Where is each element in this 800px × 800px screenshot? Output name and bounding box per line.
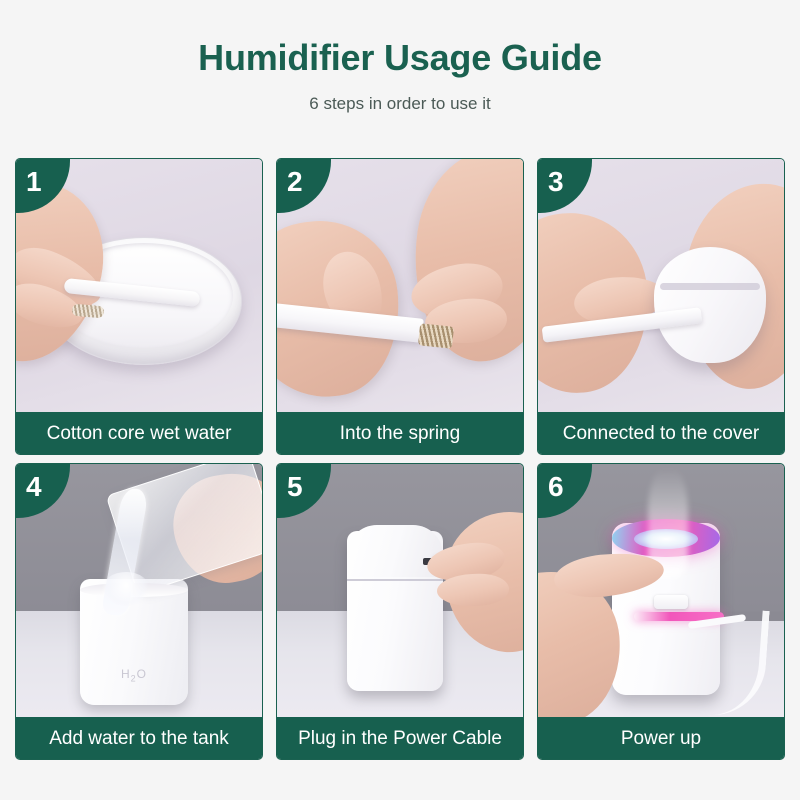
humidifier-usage-guide-page: Humidifier Usage Guide 6 steps in order … xyxy=(0,0,800,800)
step-card-1[interactable]: 1 Cotton core wet water xyxy=(15,158,263,455)
step-card-2[interactable]: 2 Into the spring xyxy=(276,158,524,455)
step-caption-3: Connected to the cover xyxy=(538,412,784,454)
step-card-3[interactable]: 3 Connected to the cover xyxy=(537,158,785,455)
h2o-suffix: O xyxy=(137,667,147,681)
step-photo-2: 2 xyxy=(277,159,523,412)
step-caption-6: Power up xyxy=(538,717,784,759)
step-caption-4: Add water to the tank xyxy=(16,717,262,759)
humidifier-cover-lip xyxy=(660,283,760,290)
step-photo-5: 5 xyxy=(277,464,523,717)
step-caption-5: Plug in the Power Cable xyxy=(277,717,523,759)
step-card-5[interactable]: 5 Plug in the Power Cable xyxy=(276,463,524,760)
page-subtitle: 6 steps in order to use it xyxy=(0,94,800,114)
step-card-4[interactable]: H2O 4 Add water to the tank xyxy=(15,463,263,760)
step-photo-1: 1 xyxy=(16,159,262,412)
power-button xyxy=(654,595,688,609)
tank-h2o-marking: H2O xyxy=(80,667,188,683)
step-number-2: 2 xyxy=(287,168,303,196)
page-header: Humidifier Usage Guide 6 steps in order … xyxy=(0,0,800,114)
step-photo-6: 6 xyxy=(538,464,784,717)
humidifier-seam xyxy=(347,579,443,581)
step-number-6: 6 xyxy=(548,473,564,501)
step-number-1: 1 xyxy=(26,168,42,196)
step-number-3: 3 xyxy=(548,168,564,196)
water-splash xyxy=(102,572,150,606)
h2o-prefix: H xyxy=(121,667,131,681)
humidifier-cover xyxy=(654,247,766,363)
step-card-6[interactable]: 6 Power up xyxy=(537,463,785,760)
step-photo-4: H2O 4 xyxy=(16,464,262,717)
page-title: Humidifier Usage Guide xyxy=(0,38,800,78)
steps-grid: 1 Cotton core wet water 2 xyxy=(15,158,785,760)
step-caption-1: Cotton core wet water xyxy=(16,412,262,454)
step-number-5: 5 xyxy=(287,473,303,501)
step-number-4: 4 xyxy=(26,473,42,501)
step-photo-3: 3 xyxy=(538,159,784,412)
spring-coil xyxy=(418,323,454,348)
step-caption-2: Into the spring xyxy=(277,412,523,454)
